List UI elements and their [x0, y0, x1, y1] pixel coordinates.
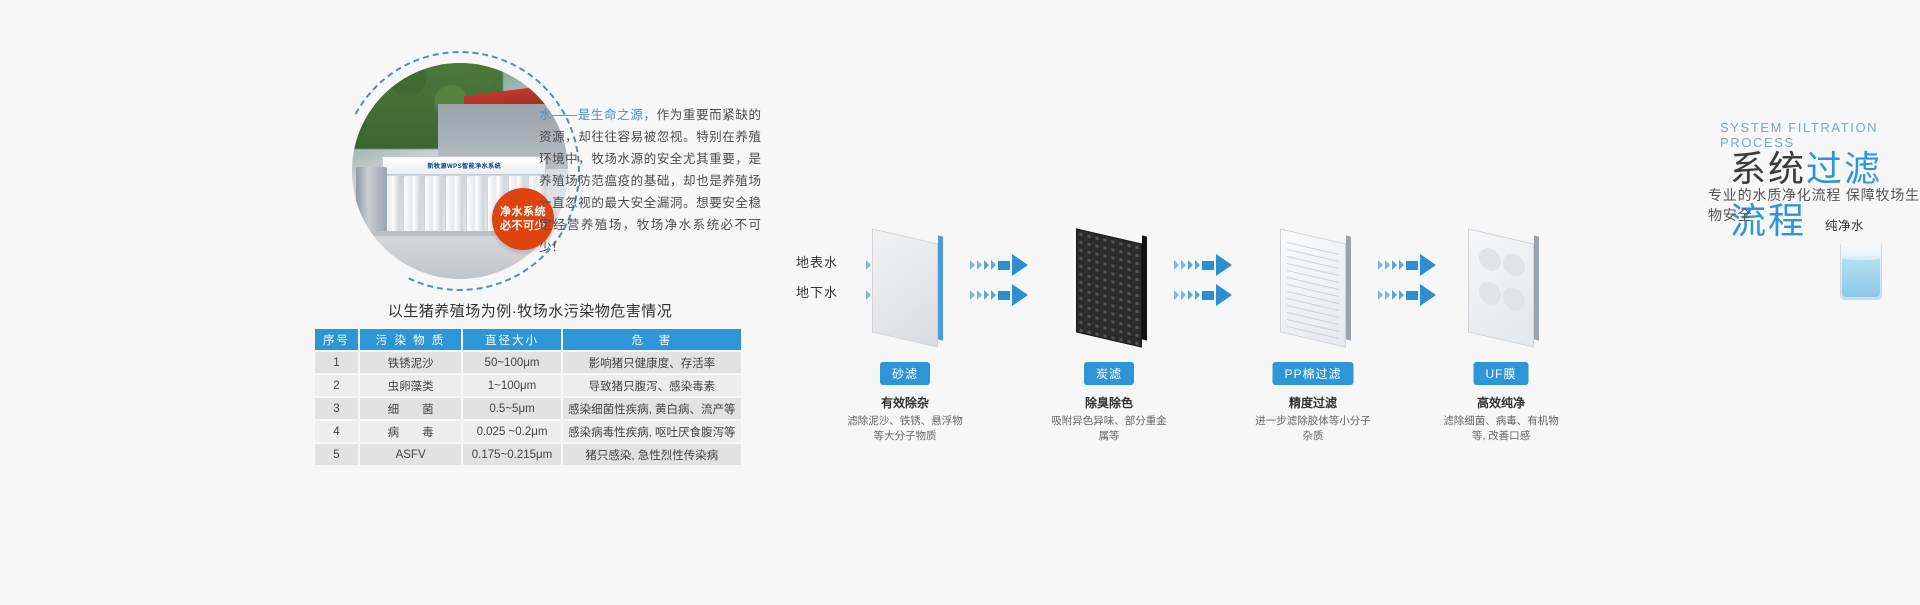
stage-caption-title-sand: 有效除杂 [845, 394, 965, 411]
cell-diameter: 0.175~0.215μm [463, 444, 560, 465]
transfer-arrow-1b [970, 284, 1028, 306]
table-row: 2 虫卵藻类 1~100μm 导致猪只腹泻、感染毒素 [315, 375, 741, 396]
pp-cotton-filter-panel [1280, 236, 1346, 340]
transfer-arrow-2a [1174, 254, 1232, 276]
stage-caption-desc-carbon: 吸附异色异味、部分重金属等 [1049, 414, 1169, 444]
stage-caption-title-pp: 精度过滤 [1253, 394, 1373, 411]
source-label-surface: 地表水 [796, 248, 838, 278]
col-header-diameter: 直径大小 [463, 329, 560, 350]
uf-membrane-panel [1468, 236, 1534, 340]
col-header-harm: 危 害 [563, 329, 741, 350]
stage-tag-pp-cotton: PP棉过滤 [1272, 362, 1353, 385]
table-title: 以生猪养殖场为例·牧场水污染物危害情况 [310, 300, 750, 321]
left-section: 新牧源WPS智能净水系统 净水系统 必不可少 水——是生命之源，作为重要而紧缺的… [0, 0, 780, 605]
heading-part-1: 系统 [1730, 148, 1806, 189]
source-label-ground: 地下水 [796, 278, 838, 308]
cell-pollutant: ASFV [360, 444, 461, 465]
cell-diameter: 1~100μm [463, 375, 560, 396]
stage-caption-uf: 高效纯净 滤除细菌、病毒、有机物等, 改善口感 [1441, 394, 1561, 444]
col-header-pollutant: 污 染 物 质 [360, 329, 461, 350]
filter-stage-pp-cotton: PP棉过滤 精度过滤 进一步滤除胶体等小分子杂质 [1280, 236, 1346, 340]
water-source-labels: 地表水 地下水 [796, 248, 838, 308]
stage-caption-sand: 有效除杂 滤除泥沙、铁锈、悬浮物等大分子物质 [845, 394, 965, 444]
cell-pollutant: 铁锈泥沙 [360, 352, 461, 373]
stage-tag-sand: 砂滤 [880, 362, 930, 385]
cell-index: 3 [315, 398, 358, 419]
filtration-flow-diagram: 地表水 地下水 砂滤 有效除杂 滤除泥沙、铁锈、悬浮物等大分子物 [780, 230, 1920, 430]
cell-index: 2 [315, 375, 358, 396]
stage-caption-pp-cotton: 精度过滤 进一步滤除胶体等小分子杂质 [1253, 394, 1373, 444]
stage-caption-carbon: 除臭除色 吸附异色异味、部分重金属等 [1049, 394, 1169, 444]
stage-caption-title-uf: 高效纯净 [1441, 394, 1561, 411]
right-section: SYSTEM FILTRATION PROCESS 系统过滤流程 专业的水质净化… [780, 0, 1920, 605]
intro-body: 作为重要而紧缺的资源，却往往容易被忽视。特别在养殖环境中，牧场水源的安全尤其重要… [539, 108, 761, 254]
pollutant-table: 序号 污 染 物 质 直径大小 危 害 1 铁锈泥沙 50~100μm 影响猪只… [313, 327, 743, 467]
transfer-arrow-1a [970, 254, 1028, 276]
filter-stage-sand: 砂滤 有效除杂 滤除泥沙、铁锈、悬浮物等大分子物质 [872, 236, 938, 340]
cell-harm: 导致猪只腹泻、感染毒素 [563, 375, 741, 396]
cell-index: 1 [315, 352, 358, 373]
cell-harm: 影响猪只健康度、存活率 [563, 352, 741, 373]
cell-diameter: 0.025 ~0.2μm [463, 421, 560, 442]
stage-tag-uf: UF膜 [1474, 362, 1529, 385]
transfer-arrow-3a [1378, 254, 1436, 276]
filter-stage-uf-membrane: UF膜 高效纯净 滤除细菌、病毒、有机物等, 改善口感 [1468, 236, 1534, 340]
page-root: 新牧源WPS智能净水系统 净水系统 必不可少 水——是生命之源，作为重要而紧缺的… [0, 0, 1920, 605]
stage-caption-desc-sand: 滤除泥沙、铁锈、悬浮物等大分子物质 [845, 414, 965, 444]
stage-caption-desc-uf: 滤除细菌、病毒、有机物等, 改善口感 [1441, 414, 1561, 444]
cell-diameter: 0.5~5μm [463, 398, 560, 419]
stage-caption-title-carbon: 除臭除色 [1049, 394, 1169, 411]
transfer-arrow-2b [1174, 284, 1232, 306]
table-row: 1 铁锈泥沙 50~100μm 影响猪只健康度、存活率 [315, 352, 741, 373]
pure-water-glass-icon [1840, 244, 1882, 300]
cell-pollutant: 细 菌 [360, 398, 461, 419]
filter-stage-carbon: 炭滤 除臭除色 吸附异色异味、部分重金属等 [1076, 236, 1142, 340]
intro-highlight: 水——是生命之源， [539, 108, 657, 122]
section-subheading: 专业的水质净化流程 保障牧场生物安全 [1708, 185, 1920, 225]
cell-harm: 猪只感染, 急性烈性传染病 [563, 444, 741, 465]
carbon-filter-panel [1076, 236, 1142, 340]
cell-index: 4 [315, 421, 358, 442]
cell-harm: 感染细菌性疾病, 黄白病、流产等 [563, 398, 741, 419]
cell-diameter: 50~100μm [463, 352, 560, 373]
photo-pipes [356, 167, 386, 240]
stage-caption-desc-pp: 进一步滤除胶体等小分子杂质 [1253, 414, 1373, 444]
table-row: 5 ASFV 0.175~0.215μm 猪只感染, 急性烈性传染病 [315, 444, 741, 465]
cell-harm: 感染病毒性疾病, 呕吐厌食腹泻等 [563, 421, 741, 442]
cell-index: 5 [315, 444, 358, 465]
intro-paragraph: 水——是生命之源，作为重要而紧缺的资源，却往往容易被忽视。特别在养殖环境中，牧场… [539, 104, 761, 258]
table-row: 4 病 毒 0.025 ~0.2μm 感染病毒性疾病, 呕吐厌食腹泻等 [315, 421, 741, 442]
photo-banner-text: 新牧源WPS智能净水系统 [382, 156, 546, 175]
cell-pollutant: 病 毒 [360, 421, 461, 442]
transfer-arrow-3b [1378, 284, 1436, 306]
table-header-row: 序号 污 染 物 质 直径大小 危 害 [315, 329, 741, 350]
pure-water-label: 纯净水 [1825, 215, 1864, 234]
cell-pollutant: 虫卵藻类 [360, 375, 461, 396]
col-header-index: 序号 [315, 329, 358, 350]
sand-filter-panel [872, 236, 938, 340]
table-row: 3 细 菌 0.5~5μm 感染细菌性疾病, 黄白病、流产等 [315, 398, 741, 419]
stage-tag-carbon: 炭滤 [1084, 362, 1134, 385]
